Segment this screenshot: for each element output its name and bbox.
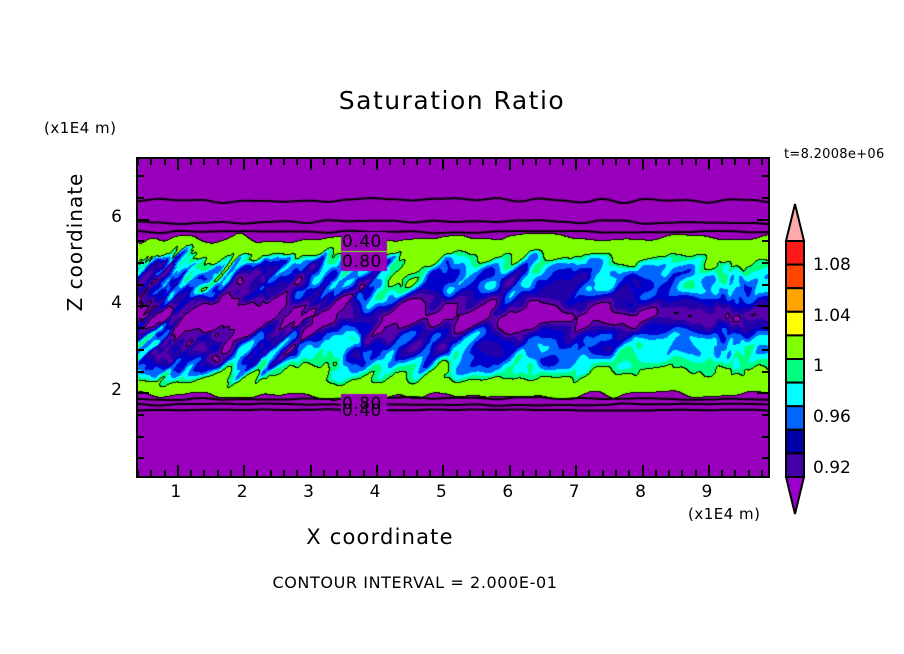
- x-axis-tick-top: [376, 159, 378, 170]
- x-axis-tick-top: [575, 159, 577, 170]
- x-axis-tick: [363, 470, 365, 476]
- x-axis-tick-top: [363, 159, 365, 165]
- y-axis-tick-right: [762, 175, 768, 177]
- y-axis-tick: [138, 240, 144, 242]
- x-tick-label: 2: [222, 482, 262, 502]
- x-axis-tick: [721, 470, 723, 476]
- x-axis-tick: [389, 470, 391, 476]
- x-tick-label: 9: [687, 482, 727, 502]
- y-axis-tick: [138, 392, 149, 394]
- x-axis-tick: [190, 470, 192, 476]
- x-axis-tick-top: [522, 159, 524, 165]
- x-axis-tick-top: [137, 159, 139, 165]
- x-axis-tick: [695, 470, 697, 476]
- x-axis-tick: [296, 470, 298, 476]
- x-axis-title: X coordinate: [0, 525, 760, 549]
- x-axis-tick-top: [734, 159, 736, 165]
- x-axis-tick: [562, 470, 564, 476]
- x-axis-tick: [283, 470, 285, 476]
- y-axis-tick: [138, 219, 149, 221]
- x-axis-tick-top: [721, 159, 723, 165]
- x-axis-tick-top: [349, 159, 351, 165]
- x-axis-tick-top: [535, 159, 537, 165]
- x-axis-tick: [416, 470, 418, 476]
- y-axis-tick-right: [762, 197, 768, 199]
- y-tick-label: 6: [96, 207, 122, 227]
- x-axis-tick: [230, 470, 232, 476]
- x-axis-tick-top: [164, 159, 166, 165]
- x-axis-tick-top: [615, 159, 617, 165]
- x-axis-tick-top: [482, 159, 484, 165]
- x-axis-tick-top: [403, 159, 405, 165]
- x-axis-tick-top: [628, 159, 630, 165]
- x-axis-tick: [243, 465, 245, 476]
- x-axis-tick-top: [283, 159, 285, 165]
- x-tick-label: 8: [621, 482, 661, 502]
- x-axis-tick-top: [270, 159, 272, 165]
- x-axis-tick-top: [642, 159, 644, 170]
- x-axis-tick-top: [416, 159, 418, 165]
- y-axis-tick: [138, 284, 144, 286]
- x-axis-tick: [761, 470, 763, 476]
- x-axis-tick-top: [230, 159, 232, 165]
- y-axis-tick: [138, 371, 144, 373]
- y-axis-tick: [138, 197, 144, 199]
- x-axis-tick-top: [190, 159, 192, 165]
- x-axis-tick-top: [442, 159, 444, 170]
- y-axis-unit-label: (x1E4 m): [44, 119, 117, 137]
- x-axis-tick-top: [323, 159, 325, 165]
- x-axis-tick: [150, 470, 152, 476]
- x-axis-tick: [681, 470, 683, 476]
- x-axis-tick-top: [495, 159, 497, 165]
- x-axis-tick: [628, 470, 630, 476]
- x-axis-tick-top: [203, 159, 205, 165]
- x-tick-label: 1: [156, 482, 196, 502]
- x-axis-tick-top: [655, 159, 657, 165]
- x-tick-label: 3: [289, 482, 329, 502]
- x-axis-tick-top: [469, 159, 471, 165]
- x-axis-tick-top: [389, 159, 391, 165]
- contour-label: 0.40: [342, 401, 382, 421]
- colorbar-swatches: [783, 203, 807, 515]
- time-stamp-annotation: t=8.2008e+06: [784, 147, 885, 162]
- x-axis-tick: [535, 470, 537, 476]
- colorbar: [783, 203, 807, 515]
- x-axis-tick: [164, 470, 166, 476]
- page-title: Saturation Ratio: [0, 86, 904, 115]
- colorbar-label: 1.04: [813, 306, 851, 326]
- x-axis-tick-top: [695, 159, 697, 165]
- x-axis-tick-top: [429, 159, 431, 165]
- y-tick-label: 4: [96, 293, 122, 313]
- y-axis-tick-right: [757, 305, 768, 307]
- y-axis-tick-right: [762, 327, 768, 329]
- x-axis-tick: [522, 470, 524, 476]
- y-axis-tick: [138, 305, 149, 307]
- y-axis-tick-right: [762, 371, 768, 373]
- contour-label: 0.80: [342, 252, 382, 272]
- colorbar-label: 1: [813, 356, 824, 376]
- x-axis-tick: [509, 465, 511, 476]
- x-axis-tick-top: [681, 159, 683, 165]
- x-axis-tick: [588, 470, 590, 476]
- x-axis-tick-top: [588, 159, 590, 165]
- x-axis-tick: [336, 470, 338, 476]
- x-axis-tick-top: [456, 159, 458, 165]
- y-axis-tick-right: [762, 349, 768, 351]
- y-axis-tick-right: [762, 436, 768, 438]
- y-axis-tick: [138, 436, 144, 438]
- y-axis-title: Z coordinate: [63, 162, 87, 322]
- x-axis-tick: [655, 470, 657, 476]
- x-axis-tick-top: [296, 159, 298, 165]
- y-axis-tick: [138, 327, 144, 329]
- x-axis-tick: [734, 470, 736, 476]
- x-axis-tick: [177, 465, 179, 476]
- y-axis-tick: [138, 349, 144, 351]
- x-axis-tick-top: [310, 159, 312, 170]
- x-axis-tick-top: [748, 159, 750, 165]
- x-axis-tick-top: [150, 159, 152, 165]
- x-axis-tick-top: [668, 159, 670, 165]
- x-axis-tick: [137, 470, 139, 476]
- x-axis-tick: [376, 465, 378, 476]
- x-tick-label: 7: [554, 482, 594, 502]
- x-axis-tick-top: [217, 159, 219, 165]
- y-tick-label: 2: [96, 380, 122, 400]
- x-axis-tick-top: [336, 159, 338, 165]
- contour-plot-area: [136, 157, 770, 478]
- x-axis-tick: [469, 470, 471, 476]
- y-axis-tick-right: [762, 240, 768, 242]
- x-axis-tick: [642, 465, 644, 476]
- x-axis-tick: [323, 470, 325, 476]
- x-axis-tick: [575, 465, 577, 476]
- y-axis-tick: [138, 457, 144, 459]
- x-axis-tick: [615, 470, 617, 476]
- x-axis-tick: [602, 470, 604, 476]
- x-axis-tick-top: [761, 159, 763, 165]
- x-axis-tick: [203, 470, 205, 476]
- x-axis-tick-top: [256, 159, 258, 165]
- y-axis-tick: [138, 262, 144, 264]
- y-axis-tick-right: [757, 392, 768, 394]
- x-axis-tick: [495, 470, 497, 476]
- x-axis-tick-top: [549, 159, 551, 165]
- x-axis-tick: [442, 465, 444, 476]
- y-axis-tick-right: [762, 457, 768, 459]
- contour-field: [138, 159, 770, 478]
- x-axis-tick: [403, 470, 405, 476]
- x-tick-label: 6: [488, 482, 528, 502]
- x-axis-tick: [256, 470, 258, 476]
- x-axis-unit-label: (x1E4 m): [688, 505, 761, 523]
- x-axis-tick: [748, 470, 750, 476]
- x-tick-label: 4: [355, 482, 395, 502]
- x-axis-tick: [549, 470, 551, 476]
- contour-label: 0.40: [342, 232, 382, 252]
- colorbar-label: 0.96: [813, 407, 851, 427]
- y-axis-tick-right: [757, 219, 768, 221]
- x-axis-tick-top: [708, 159, 710, 170]
- x-axis-tick-top: [602, 159, 604, 165]
- x-axis-tick-top: [243, 159, 245, 170]
- x-axis-tick: [310, 465, 312, 476]
- x-axis-tick-top: [562, 159, 564, 165]
- y-axis-tick: [138, 414, 144, 416]
- y-axis-tick: [138, 175, 144, 177]
- x-axis-tick: [482, 470, 484, 476]
- x-axis-tick: [429, 470, 431, 476]
- x-axis-tick-top: [509, 159, 511, 170]
- x-axis-tick: [456, 470, 458, 476]
- y-axis-tick-right: [762, 262, 768, 264]
- x-axis-tick-top: [177, 159, 179, 170]
- colorbar-label: 0.92: [813, 458, 851, 478]
- x-axis-tick: [349, 470, 351, 476]
- contour-interval-note: CONTOUR INTERVAL = 2.000E-01: [0, 573, 830, 592]
- x-axis-tick: [708, 465, 710, 476]
- x-axis-tick: [668, 470, 670, 476]
- colorbar-label: 1.08: [813, 255, 851, 275]
- y-axis-tick-right: [762, 414, 768, 416]
- x-axis-tick: [270, 470, 272, 476]
- x-tick-label: 5: [421, 482, 461, 502]
- y-axis-tick-right: [762, 284, 768, 286]
- x-axis-tick: [217, 470, 219, 476]
